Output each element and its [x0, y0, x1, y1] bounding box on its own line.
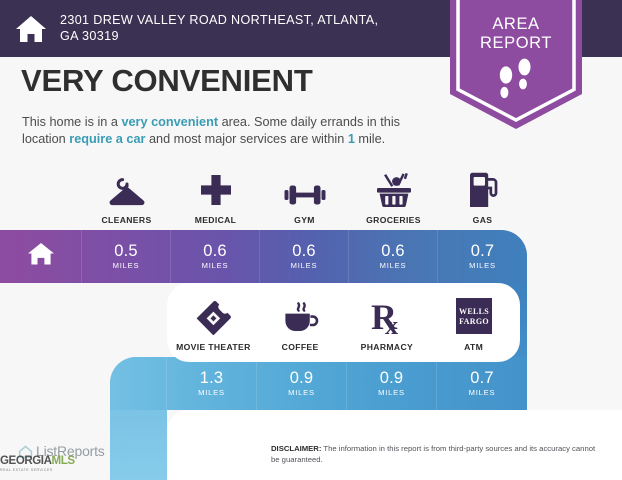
value-number: 1.3: [200, 370, 224, 387]
category-gas: GAS: [438, 168, 527, 225]
rx-icon: R x: [370, 295, 404, 335]
row1-home-marker: [0, 230, 82, 283]
row1-value-groceries: 0.6 MILES: [349, 230, 438, 283]
value-unit: MILES: [469, 388, 496, 397]
row1-value-medical: 0.6 MILES: [171, 230, 260, 283]
category-label: GYM: [294, 215, 315, 225]
row2-value-coffee: 0.9 MILES: [257, 357, 347, 410]
hanger-icon: [107, 168, 147, 208]
row2-value-pharmacy: 0.9 MILES: [347, 357, 437, 410]
value-unit: MILES: [469, 261, 496, 270]
disclaimer: DISCLAIMER: The information in this repo…: [271, 444, 601, 465]
row1-value-bar: 0.5 MILES 0.6 MILES 0.6 MILES 0.6 MILES …: [0, 230, 527, 283]
row1-value-gas: 0.7 MILES: [438, 230, 527, 283]
category-label: MOVIE THEATER: [176, 342, 251, 352]
value-unit: MILES: [198, 388, 225, 397]
dumbbell-icon: [284, 168, 326, 208]
category-coffee: COFFEE: [257, 295, 344, 352]
row2-spacer: [110, 357, 167, 410]
badge-line-1: AREA: [450, 15, 582, 34]
property-address: 2301 DREW VALLEY ROAD NORTHEAST, ATLANTA…: [60, 13, 400, 44]
value-number: 0.5: [114, 243, 138, 260]
category-label: GROCERIES: [366, 215, 421, 225]
home-icon: [27, 241, 55, 272]
value-number: 0.6: [381, 243, 405, 260]
svg-text:WELLS: WELLS: [459, 307, 489, 316]
basket-icon: [375, 168, 413, 208]
category-label: COFFEE: [282, 342, 319, 352]
home-icon: [14, 12, 48, 46]
row2-value-bar: 1.3 MILES 0.9 MILES 0.9 MILES 0.7 MILES: [110, 357, 527, 410]
category-label: GAS: [473, 215, 493, 225]
gamls-mls: MLS: [52, 455, 75, 467]
ticket-icon: [194, 295, 232, 335]
value-number: 0.7: [470, 370, 494, 387]
category-label: MEDICAL: [195, 215, 237, 225]
category-cleaners: CLEANERS: [82, 168, 171, 225]
value-number: 0.9: [380, 370, 404, 387]
gamls-tagline: REAL ESTATE SERVICES: [0, 468, 62, 472]
category-gym: GYM: [260, 168, 349, 225]
coffee-cup-icon: [281, 295, 319, 335]
category-pharmacy: R x PHARMACY: [344, 295, 431, 352]
value-number: 0.6: [203, 243, 227, 260]
georgia-mls-watermark: GEORGIAMLS REAL ESTATE SERVICES: [0, 455, 62, 472]
category-label: ATM: [464, 342, 483, 352]
row1-icon-group: CLEANERS MEDICAL GYM: [82, 168, 527, 225]
value-unit: MILES: [291, 261, 318, 270]
row2-icon-group: MOVIE THEATER COFFEE R x PHARMACY: [170, 295, 517, 352]
value-unit: MILES: [378, 388, 405, 397]
row2-value-atm: 0.7 MILES: [437, 357, 527, 410]
category-label: CLEANERS: [101, 215, 151, 225]
value-number: 0.7: [471, 243, 495, 260]
value-unit: MILES: [380, 261, 407, 270]
gamls-georgia: GEORGIA: [0, 455, 52, 467]
row1-value-gym: 0.6 MILES: [260, 230, 349, 283]
svg-text:FARGO: FARGO: [459, 317, 489, 326]
category-label: PHARMACY: [361, 342, 413, 352]
category-movie-theater: MOVIE THEATER: [170, 295, 257, 352]
category-medical: MEDICAL: [171, 168, 260, 225]
row2-value-movie-theater: 1.3 MILES: [167, 357, 257, 410]
svg-text:x: x: [385, 311, 398, 335]
value-number: 0.6: [292, 243, 316, 260]
area-report-badge: AREA REPORT: [450, 0, 582, 129]
gas-pump-icon: [467, 168, 499, 208]
gamls-wordmark: GEORGIAMLS: [0, 455, 62, 467]
category-atm: WELLS FARGO ATM: [430, 295, 517, 352]
category-groceries: GROCERIES: [349, 168, 438, 225]
value-number: 0.9: [290, 370, 314, 387]
value-unit: MILES: [288, 388, 315, 397]
value-unit: MILES: [202, 261, 229, 270]
disclaimer-label: DISCLAIMER:: [271, 444, 321, 453]
wells-fargo-icon: WELLS FARGO: [455, 295, 493, 335]
badge-line-2: REPORT: [450, 34, 582, 53]
badge-text: AREA REPORT: [450, 15, 582, 53]
value-unit: MILES: [113, 261, 140, 270]
row1-value-cleaners: 0.5 MILES: [82, 230, 171, 283]
medical-cross-icon: [199, 168, 233, 208]
